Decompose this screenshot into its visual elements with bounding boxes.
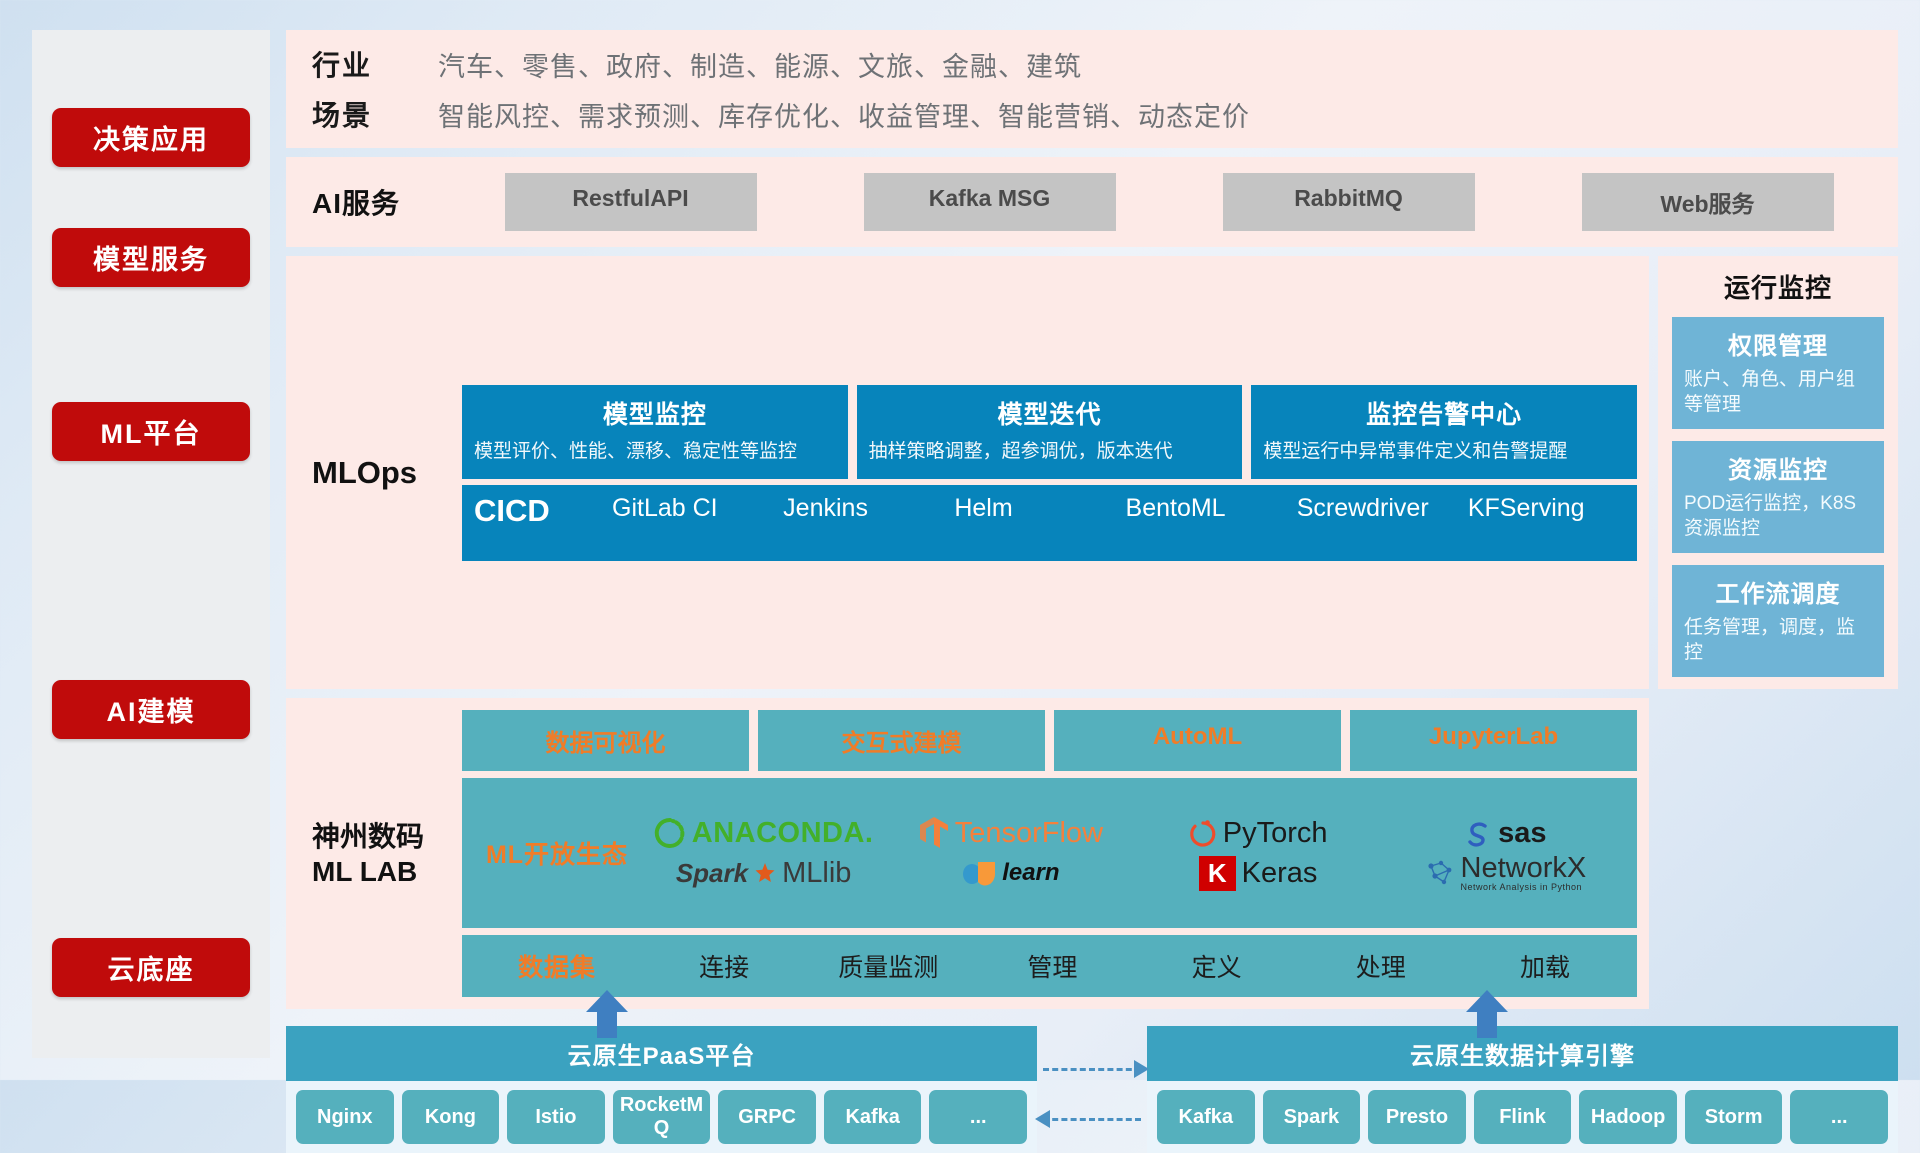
cicd-item-gitlab-ci[interactable]: GitLab CI: [606, 493, 777, 524]
pytorch-logo: PyTorch: [1189, 817, 1328, 850]
cicd-item-bentoml[interactable]: BentoML: [1120, 493, 1291, 524]
cloud-chip-nginx[interactable]: Nginx: [296, 1090, 394, 1144]
cloud-chip-kong[interactable]: Kong: [402, 1090, 500, 1144]
industry-row: 行业 汽车、零售、政府、制造、能源、文旅、金融、建筑: [312, 44, 1898, 84]
tensorflow-mark-icon: [919, 816, 949, 850]
card-desc: 账户、角色、用户组等管理: [1684, 367, 1872, 417]
scenario-label: 场景: [312, 94, 398, 134]
up-arrow-left: [586, 990, 628, 1038]
sas-logo: sas: [1464, 817, 1546, 850]
ml-platform-row: MLOps 模型监控 模型评价、性能、漂移、稳定性等监控 模型迭代 抽样策略调整…: [286, 256, 1898, 689]
ml-lab-body: 数据可视化 交互式建模 AutoML JupyterLab ML开放生态: [462, 710, 1637, 997]
service-chip-web-service[interactable]: Web服务: [1582, 173, 1834, 231]
scikit-learn-mark-icon: [962, 858, 996, 888]
cicd-strip: CICD GitLab CI Jenkins Helm BentoML Scre…: [462, 485, 1637, 561]
compute-chip-more-right[interactable]: ...: [1790, 1090, 1888, 1144]
scikit-learn-logo-text: learn: [1002, 859, 1059, 887]
compute-chip-spark[interactable]: Spark: [1263, 1090, 1361, 1144]
rail-item-model-service[interactable]: 模型服务: [52, 228, 250, 287]
cloud-chip-istio[interactable]: Istio: [507, 1090, 605, 1144]
ml-lab-label-line1: 神州数码: [312, 819, 462, 854]
card-desc: 抽样策略调整，超参调优，版本迭代: [869, 439, 1231, 465]
service-chip-rabbitmq[interactable]: RabbitMQ: [1223, 173, 1475, 231]
cloud-chip-more-left[interactable]: ...: [929, 1090, 1027, 1144]
tensorflow-logo: TensorFlow: [919, 816, 1103, 850]
ml-lab-band: 神州数码 ML LAB 数据可视化 交互式建模 AutoML JupyterLa…: [286, 698, 1649, 1009]
mlops-cards: 模型监控 模型评价、性能、漂移、稳定性等监控 模型迭代 抽样策略调整，超参调优，…: [462, 385, 1637, 479]
dataset-label: 数据集: [472, 948, 642, 984]
networkx-tagline: Network Analysis in Python: [1461, 883, 1587, 892]
dataset-item-process[interactable]: 处理: [1299, 948, 1463, 984]
dataset-item-define[interactable]: 定义: [1135, 948, 1299, 984]
service-chip-restfulapi[interactable]: RestfulAPI: [505, 173, 757, 231]
anaconda-logo-text: ANACONDA.: [692, 817, 874, 850]
ml-open-ecosystem: ML开放生态 ANACONDA.: [462, 778, 1637, 928]
pytorch-logo-text: PyTorch: [1223, 817, 1328, 850]
tool-jupyterlab[interactable]: JupyterLab: [1350, 710, 1637, 771]
cloud-chip-rocketmq[interactable]: RocketMQ: [613, 1090, 711, 1144]
scenario-values: 智能风控、需求预测、库存优化、收益管理、智能营销、动态定价: [438, 95, 1250, 134]
pytorch-mark-icon: [1189, 817, 1217, 849]
compute-chip-kafka[interactable]: Kafka: [1157, 1090, 1255, 1144]
ai-modeling-row: 神州数码 ML LAB 数据可视化 交互式建模 AutoML JupyterLa…: [286, 698, 1898, 1009]
compute-chip-presto[interactable]: Presto: [1368, 1090, 1466, 1144]
ai-service-band: AI服务 RestfulAPI Kafka MSG RabbitMQ Web服务: [286, 157, 1898, 247]
lab-row-spacer: [1658, 698, 1898, 1009]
cloud-compute-title: 云原生数据计算引擎: [1147, 1026, 1898, 1081]
cicd-label: CICD: [474, 493, 606, 529]
networkx-logo: NetworkX Network Analysis in Python: [1425, 854, 1587, 892]
up-arrow-right: [1466, 990, 1508, 1038]
runtime-monitor-panel: 运行监控 权限管理 账户、角色、用户组等管理 资源监控 POD运行监控，K8S资…: [1658, 256, 1898, 689]
mlops-card-alert-center[interactable]: 监控告警中心 模型运行中异常事件定义和告警提醒: [1251, 385, 1637, 479]
compute-chip-flink[interactable]: Flink: [1474, 1090, 1572, 1144]
cloud-compute-column: 云原生数据计算引擎 Kafka Spark Presto Flink Hadoo…: [1147, 1026, 1898, 1153]
ml-lab-label-line2: ML LAB: [312, 854, 462, 889]
monitor-card-permission[interactable]: 权限管理 账户、角色、用户组等管理: [1672, 317, 1884, 429]
ai-service-chips: RestfulAPI Kafka MSG RabbitMQ Web服务: [462, 173, 1876, 231]
scenario-row: 场景 智能风控、需求预测、库存优化、收益管理、智能营销、动态定价: [312, 94, 1898, 134]
arrow-line-right: [1043, 1068, 1141, 1071]
cicd-item-screwdriver[interactable]: Screwdriver: [1291, 493, 1462, 524]
cicd-item-kfserving[interactable]: KFServing: [1462, 493, 1633, 524]
networkx-logo-text: NetworkX: [1461, 854, 1587, 883]
spark-wordmark: Spark: [676, 858, 748, 889]
compute-chip-hadoop[interactable]: Hadoop: [1579, 1090, 1677, 1144]
card-desc: POD运行监控，K8S资源监控: [1684, 491, 1872, 541]
mlops-body: 模型监控 模型评价、性能、漂移、稳定性等监控 模型迭代 抽样策略调整，超参调优，…: [462, 385, 1637, 561]
card-title: 监控告警中心: [1263, 395, 1625, 431]
card-title: 工作流调度: [1684, 574, 1872, 609]
cloud-base-row: 云原生PaaS平台 Nginx Kong Istio RocketMQ GRPC…: [286, 1026, 1898, 1153]
mllib-logo-text: MLlib: [782, 857, 851, 890]
sas-logo-text: sas: [1498, 817, 1546, 850]
card-desc: 模型评价、性能、漂移、稳定性等监控: [474, 439, 836, 465]
cicd-items: GitLab CI Jenkins Helm BentoML Screwdriv…: [606, 493, 1633, 524]
rail-item-ml-platform[interactable]: ML平台: [52, 402, 250, 461]
cloud-exchange-arrows: [1037, 1026, 1147, 1153]
ml-ecosystem-label: ML开放生态: [472, 835, 642, 871]
arrow-head-right-icon: [1134, 1060, 1149, 1078]
industry-label: 行业: [312, 44, 398, 84]
tool-automl[interactable]: AutoML: [1054, 710, 1341, 771]
industry-values: 汽车、零售、政府、制造、能源、文旅、金融、建筑: [438, 45, 1082, 84]
spark-mllib-logo: Spark MLlib: [676, 857, 852, 890]
dataset-items: 连接 质量监测 管理 定义 处理 加载: [642, 948, 1627, 984]
anaconda-logo: ANACONDA.: [654, 817, 874, 850]
cloud-compute-chips: Kafka Spark Presto Flink Hadoop Storm ..…: [1147, 1081, 1898, 1153]
dataset-strip: 数据集 连接 质量监测 管理 定义 处理 加载: [462, 935, 1637, 997]
tensorflow-logo-text: TensorFlow: [955, 817, 1103, 850]
ml-lab-label: 神州数码 ML LAB: [312, 819, 462, 889]
keras-logo-text: Keras: [1242, 857, 1318, 890]
card-desc: 模型运行中异常事件定义和告警提醒: [1263, 439, 1625, 465]
monitor-card-resource[interactable]: 资源监控 POD运行监控，K8S资源监控: [1672, 441, 1884, 553]
cloud-paas-column: 云原生PaaS平台 Nginx Kong Istio RocketMQ GRPC…: [286, 1026, 1037, 1153]
cloud-chip-grpc[interactable]: GRPC: [718, 1090, 816, 1144]
cicd-item-helm[interactable]: Helm: [948, 493, 1119, 524]
keras-mark-icon: K: [1199, 856, 1236, 891]
dataset-item-quality[interactable]: 质量监测: [806, 948, 970, 984]
keras-logo: K Keras: [1199, 856, 1318, 891]
mlops-card-model-monitoring[interactable]: 模型监控 模型评价、性能、漂移、稳定性等监控: [462, 385, 848, 479]
card-title: 权限管理: [1684, 326, 1872, 361]
ml-lab-tools: 数据可视化 交互式建模 AutoML JupyterLab: [462, 710, 1637, 771]
cloud-chip-kafka[interactable]: Kafka: [824, 1090, 922, 1144]
arrow-head-left-icon: [1035, 1110, 1050, 1128]
dataset-item-load[interactable]: 加载: [1463, 948, 1627, 984]
layer-rail: 决策应用 模型服务 ML平台 AI建模 云底座: [32, 30, 270, 1058]
rail-item-cloud-base[interactable]: 云底座: [52, 938, 250, 997]
networkx-mark-icon: [1425, 859, 1455, 887]
mlops-card-model-iteration[interactable]: 模型迭代 抽样策略调整，超参调优，版本迭代: [857, 385, 1243, 479]
compute-chip-storm[interactable]: Storm: [1685, 1090, 1783, 1144]
rail-item-decision-app[interactable]: 决策应用: [52, 108, 250, 167]
anaconda-mark-icon: [654, 817, 686, 849]
cloud-paas-chips: Nginx Kong Istio RocketMQ GRPC Kafka ...: [286, 1081, 1037, 1153]
monitor-card-workflow[interactable]: 工作流调度 任务管理，调度，监控: [1672, 565, 1884, 677]
diagram-canvas: 决策应用 模型服务 ML平台 AI建模 云底座 行业 汽车、零售、政府、制造、能…: [0, 0, 1920, 1080]
tool-interactive-modeling[interactable]: 交互式建模: [758, 710, 1045, 771]
dataset-item-connect[interactable]: 连接: [642, 948, 806, 984]
dataset-item-manage[interactable]: 管理: [970, 948, 1134, 984]
mlops-band: MLOps 模型监控 模型评价、性能、漂移、稳定性等监控 模型迭代 抽样策略调整…: [286, 256, 1649, 689]
main-column: 行业 汽车、零售、政府、制造、能源、文旅、金融、建筑 场景 智能风控、需求预测、…: [286, 30, 1898, 1058]
tool-data-visualization[interactable]: 数据可视化: [462, 710, 749, 771]
rail-item-ai-modeling[interactable]: AI建模: [52, 680, 250, 739]
card-title: 资源监控: [1684, 450, 1872, 485]
scikit-learn-logo: learn: [962, 858, 1059, 888]
service-chip-kafka-msg[interactable]: Kafka MSG: [864, 173, 1116, 231]
card-title: 模型监控: [474, 395, 836, 431]
arrow-line-left: [1043, 1118, 1141, 1121]
runtime-monitor-title: 运行监控: [1672, 268, 1884, 305]
ecosystem-logo-grid: ANACONDA. TensorFlow: [642, 814, 1627, 892]
ai-service-label: AI服务: [312, 182, 462, 222]
sas-mark-icon: [1464, 819, 1492, 847]
decision-application-band: 行业 汽车、零售、政府、制造、能源、文旅、金融、建筑 场景 智能风控、需求预测、…: [286, 30, 1898, 148]
cicd-item-jenkins[interactable]: Jenkins: [777, 493, 948, 524]
cloud-paas-title: 云原生PaaS平台: [286, 1026, 1037, 1081]
spark-star-icon: [754, 862, 776, 884]
card-title: 模型迭代: [869, 395, 1231, 431]
card-desc: 任务管理，调度，监控: [1684, 615, 1872, 665]
mlops-label: MLOps: [312, 455, 462, 491]
